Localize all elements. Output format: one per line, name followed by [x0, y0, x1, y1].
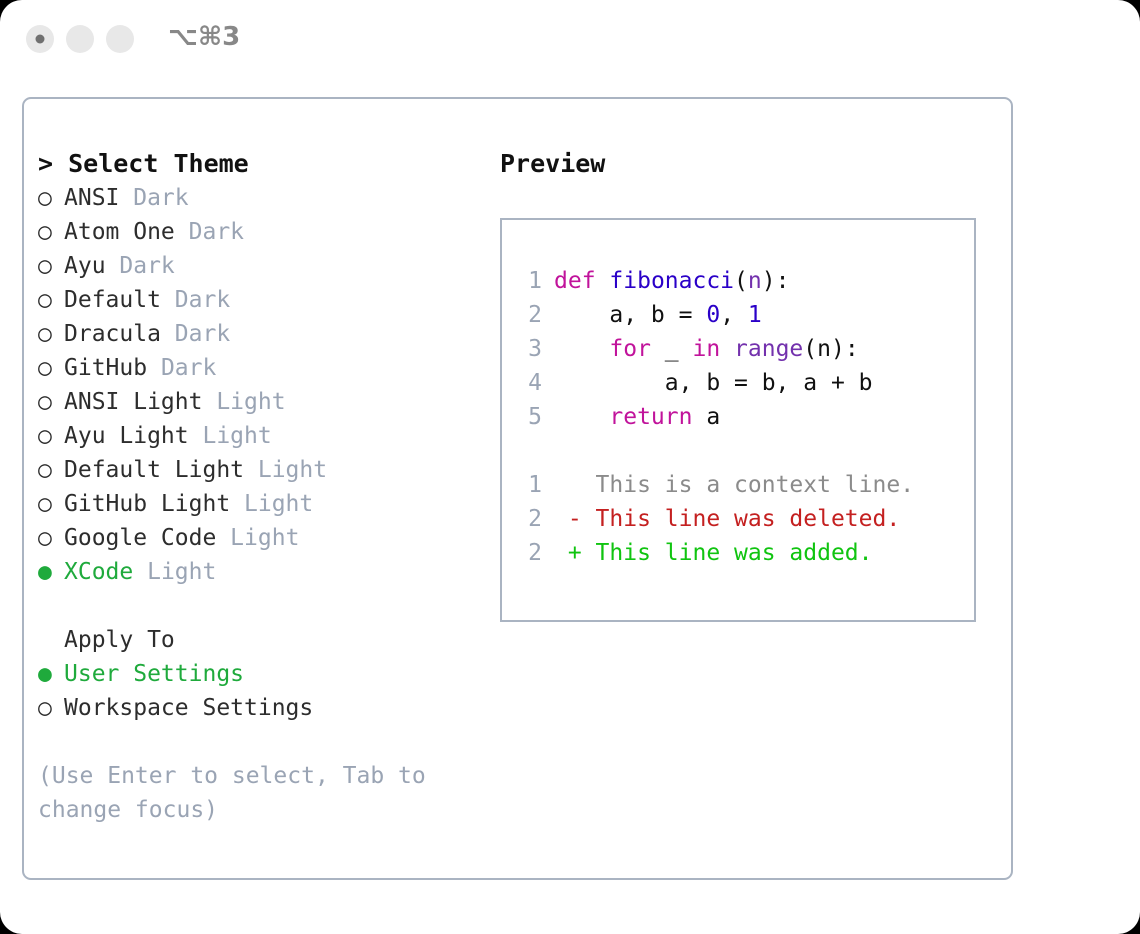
- theme-option-ayu[interactable]: ○Ayu Dark: [38, 249, 488, 283]
- theme-name: ANSI: [64, 185, 119, 211]
- theme-kind-label: Dark: [175, 219, 244, 245]
- radio-unselected-icon[interactable]: ○: [38, 351, 64, 385]
- diff-line: 2 + This line was added.: [516, 536, 968, 570]
- syntax-sample-lines: 1def fibonacci(n):2 a, b = 0, 13 for _ i…: [516, 264, 968, 434]
- line-number: 2: [516, 298, 542, 332]
- diff-sign: +: [554, 540, 582, 566]
- diff-line: 2 - This line was deleted.: [516, 502, 968, 536]
- theme-name: ANSI Light: [64, 389, 202, 415]
- preview-box: 1def fibonacci(n):2 a, b = 0, 13 for _ i…: [500, 218, 976, 622]
- radio-selected-icon[interactable]: ●: [38, 657, 64, 691]
- radio-unselected-icon[interactable]: ○: [38, 215, 64, 249]
- apply-to-label: Workspace Settings: [64, 695, 313, 721]
- code-token: a: [692, 404, 720, 430]
- diff-text: This line was deleted.: [582, 506, 901, 532]
- theme-option-github-light[interactable]: ○GitHub Light Light: [38, 487, 488, 521]
- theme-option-atom-one[interactable]: ○Atom One Dark: [38, 215, 488, 249]
- theme-kind-label: Dark: [147, 355, 216, 381]
- line-number: 1: [516, 468, 542, 502]
- code-token: [596, 268, 610, 294]
- theme-option-xcode[interactable]: ●XCode Light: [38, 555, 488, 589]
- code-token: _: [651, 336, 693, 362]
- preview-column: Preview 1def fibonacci(n):2 a, b = 0, 13…: [500, 147, 1000, 622]
- code-token: (: [803, 336, 817, 362]
- app-window: ⌥⌘3 > Select Theme ○ANSI Dark○Atom One D…: [0, 0, 1140, 934]
- spacer: [38, 589, 488, 623]
- apply-to-label: User Settings: [64, 661, 244, 687]
- theme-name: Google Code: [64, 525, 216, 551]
- code-token: [720, 336, 734, 362]
- code-token: return: [609, 404, 692, 430]
- code-token: def: [554, 268, 596, 294]
- diff-sign: [554, 472, 582, 498]
- theme-option-default-light[interactable]: ○Default Light Light: [38, 453, 488, 487]
- theme-name: Ayu: [64, 253, 106, 279]
- theme-selector-column: > Select Theme ○ANSI Dark○Atom One Dark○…: [38, 147, 488, 827]
- radio-unselected-icon[interactable]: ○: [38, 283, 64, 317]
- theme-name: Ayu Light: [64, 423, 189, 449]
- theme-name: Dracula: [64, 321, 161, 347]
- theme-option-ansi-light[interactable]: ○ANSI Light Light: [38, 385, 488, 419]
- keyboard-shortcut-label: ⌥⌘3: [168, 22, 240, 52]
- theme-kind-label: Dark: [161, 321, 230, 347]
- theme-option-ansi[interactable]: ○ANSI Dark: [38, 181, 488, 215]
- theme-option-dracula[interactable]: ○Dracula Dark: [38, 317, 488, 351]
- radio-unselected-icon[interactable]: ○: [38, 385, 64, 419]
- code-token: fibonacci: [609, 268, 734, 294]
- code-token: range: [734, 336, 803, 362]
- theme-option-google-code[interactable]: ○Google Code Light: [38, 521, 488, 555]
- code-line: 3 for _ in range(n):: [516, 332, 968, 366]
- theme-kind-label: Light: [216, 525, 299, 551]
- apply-to-option-user-settings[interactable]: ●User Settings: [38, 657, 488, 691]
- theme-kind-label: Light: [202, 389, 285, 415]
- diff-sample-lines: 1 This is a context line.2 - This line w…: [516, 468, 968, 570]
- radio-unselected-icon[interactable]: ○: [38, 317, 64, 351]
- code-token: n: [817, 336, 831, 362]
- theme-kind-label: Light: [230, 491, 313, 517]
- code-token: 0: [706, 302, 720, 328]
- radio-unselected-icon[interactable]: ○: [38, 453, 64, 487]
- radio-unselected-icon[interactable]: ○: [38, 691, 64, 725]
- line-number: 5: [516, 400, 542, 434]
- theme-name: XCode: [64, 559, 133, 585]
- select-theme-header: > Select Theme: [38, 147, 488, 181]
- theme-name: GitHub Light: [64, 491, 230, 517]
- theme-name: Default Light: [64, 457, 244, 483]
- diff-text: This is a context line.: [582, 472, 914, 498]
- apply-to-option-workspace-settings[interactable]: ○Workspace Settings: [38, 691, 488, 725]
- title-bar: ⌥⌘3: [0, 0, 1140, 80]
- code-token: a, b = b, a + b: [554, 370, 873, 396]
- keyboard-hint-text: (Use Enter to select, Tab to change focu…: [38, 759, 438, 827]
- code-line: 4 a, b = b, a + b: [516, 366, 968, 400]
- code-spacer: [516, 434, 968, 468]
- code-line: 5 return a: [516, 400, 968, 434]
- line-number: 1: [516, 264, 542, 298]
- radio-unselected-icon[interactable]: ○: [38, 521, 64, 555]
- code-token: in: [692, 336, 720, 362]
- theme-option-default[interactable]: ○Default Dark: [38, 283, 488, 317]
- diff-line: 1 This is a context line.: [516, 468, 968, 502]
- code-token: [554, 404, 609, 430]
- theme-kind-label: Dark: [161, 287, 230, 313]
- code-token: ):: [762, 268, 790, 294]
- theme-option-ayu-light[interactable]: ○Ayu Light Light: [38, 419, 488, 453]
- line-number: 2: [516, 502, 542, 536]
- code-token: ,: [720, 302, 748, 328]
- theme-name: Default: [64, 287, 161, 313]
- line-number: 4: [516, 366, 542, 400]
- window-dot-active[interactable]: [26, 25, 54, 53]
- code-line: 1def fibonacci(n):: [516, 264, 968, 298]
- main-panel: > Select Theme ○ANSI Dark○Atom One Dark○…: [22, 97, 1013, 880]
- theme-kind-label: Light: [133, 559, 216, 585]
- radio-unselected-icon[interactable]: ○: [38, 181, 64, 215]
- window-dot-3[interactable]: [106, 25, 134, 53]
- radio-unselected-icon[interactable]: ○: [38, 419, 64, 453]
- theme-kind-label: Dark: [106, 253, 175, 279]
- theme-kind-label: Light: [189, 423, 272, 449]
- radio-selected-icon[interactable]: ●: [38, 555, 64, 589]
- code-token: for: [609, 336, 651, 362]
- apply-to-list[interactable]: ●User Settings○Workspace Settings: [38, 657, 488, 725]
- theme-name: Atom One: [64, 219, 175, 245]
- theme-kind-label: Light: [244, 457, 327, 483]
- code-token: ):: [831, 336, 859, 362]
- code-token: (: [734, 268, 748, 294]
- window-dot-2[interactable]: [66, 25, 94, 53]
- apply-to-header: Apply To: [38, 623, 488, 657]
- line-number: 2: [516, 536, 542, 570]
- radio-unselected-icon[interactable]: ○: [38, 249, 64, 283]
- preview-header: Preview: [500, 147, 1000, 181]
- theme-name: GitHub: [64, 355, 147, 381]
- code-token: 1: [748, 302, 762, 328]
- theme-kind-label: Dark: [119, 185, 188, 211]
- diff-sign: -: [554, 506, 582, 532]
- diff-text: This line was added.: [582, 540, 873, 566]
- theme-option-github[interactable]: ○GitHub Dark: [38, 351, 488, 385]
- radio-unselected-icon[interactable]: ○: [38, 487, 64, 521]
- window-dot-active-inner: [36, 35, 45, 44]
- code-token: [554, 336, 609, 362]
- theme-list[interactable]: ○ANSI Dark○Atom One Dark○Ayu Dark○Defaul…: [38, 181, 488, 589]
- line-number: 3: [516, 332, 542, 366]
- code-line: 2 a, b = 0, 1: [516, 298, 968, 332]
- code-token: n: [748, 268, 762, 294]
- code-preview: 1def fibonacci(n):2 a, b = 0, 13 for _ i…: [516, 264, 968, 570]
- code-token: a, b =: [554, 302, 706, 328]
